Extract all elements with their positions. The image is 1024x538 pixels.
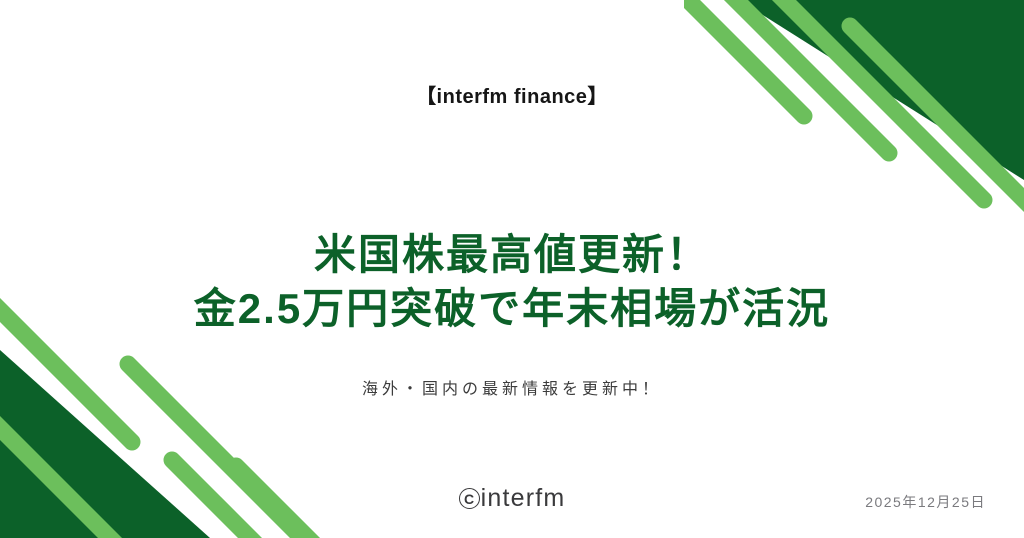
program-eyebrow: 【interfm finance】 bbox=[0, 80, 1024, 109]
stripe-2 bbox=[694, 0, 889, 153]
stripe-4 bbox=[850, 26, 1024, 205]
title-line-1: 米国株最高値更新！ bbox=[0, 228, 1024, 282]
title-line-2: 金2.5万円突破で年末相場が活況 bbox=[0, 282, 1024, 336]
brand-logo-text: interfm bbox=[481, 484, 566, 513]
finance-news-banner: 【interfm finance】 米国株最高値更新！ 金2.5万円突破で年末相… bbox=[0, 0, 1024, 538]
page-title: 米国株最高値更新！ 金2.5万円突破で年末相場が活況 bbox=[0, 228, 1024, 336]
circled-c-icon: C bbox=[459, 488, 480, 509]
stripe-2 bbox=[0, 408, 138, 538]
top-right-decoration bbox=[684, 0, 1024, 240]
subtitle: 海外・国内の最新情報を更新中！ bbox=[0, 375, 1024, 399]
publish-date: 2025年12月25日 bbox=[865, 492, 986, 512]
